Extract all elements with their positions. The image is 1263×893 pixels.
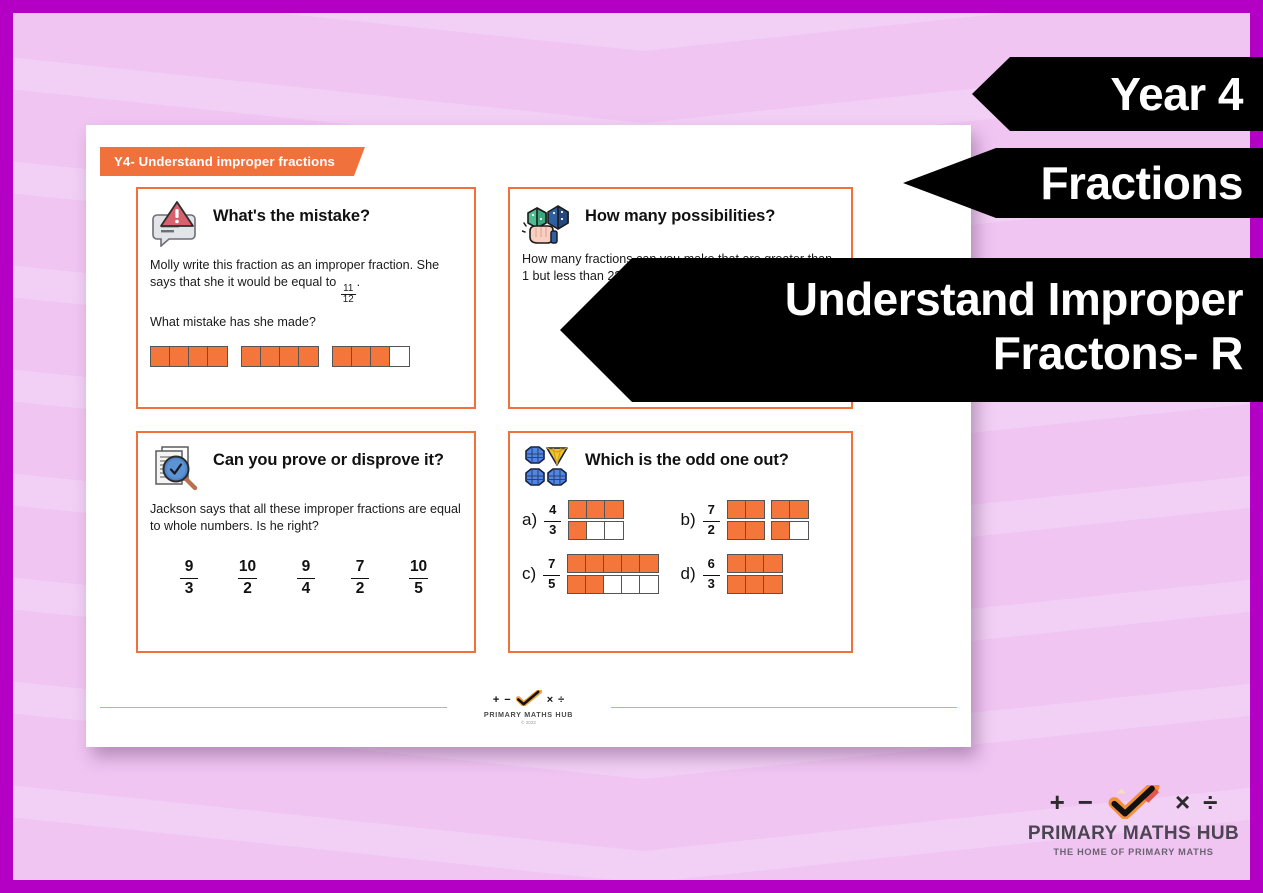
option-b[interactable]: b)72 <box>681 500 840 540</box>
card-odd-one-out[interactable]: Which is the odd one out? a)43b)72c)75d)… <box>508 431 853 653</box>
card-header: Can you prove or disprove it? <box>150 443 462 491</box>
bar-cell-empty <box>390 347 409 366</box>
shape-cell-filled <box>790 501 808 518</box>
shape-block <box>771 521 809 540</box>
shape-cell-filled <box>728 522 746 539</box>
fraction-bar <box>150 346 228 367</box>
fraction-numerator: 9 <box>297 558 316 576</box>
fraction-denominator: 2 <box>351 578 370 597</box>
stacked-fraction: 72 <box>351 558 370 598</box>
shape-block <box>727 521 765 540</box>
fraction-bar <box>332 346 410 367</box>
shape-cell-filled <box>772 501 790 518</box>
shape-row <box>727 521 809 540</box>
card-header: How many possibilities? <box>522 199 839 247</box>
bar-cell-filled <box>151 347 170 366</box>
card-body: Jackson says that all these improper fra… <box>150 501 462 536</box>
card-title: How many possibilities? <box>585 199 775 227</box>
shape-cell-filled <box>569 522 587 539</box>
shape-cell-filled <box>605 501 623 518</box>
option-label: d) <box>681 564 696 584</box>
bar-cell-filled <box>280 347 299 366</box>
shape-cell-empty <box>622 576 640 593</box>
shape-block <box>771 500 809 519</box>
logo-tagline: THE HOME OF PRIMARY MATHS <box>1026 847 1241 857</box>
stacked-fraction: 102 <box>234 558 261 598</box>
banner-year: Year 4 <box>972 57 1263 131</box>
shape-block <box>727 575 783 594</box>
fraction-bar <box>241 346 319 367</box>
fraction-denominator: 3 <box>544 521 561 538</box>
fraction-numerator: 6 <box>703 557 720 573</box>
option-fraction: 75 <box>543 557 560 591</box>
footer-brand-name: PRIMARY MATHS HUB <box>461 710 597 719</box>
bar-cell-filled <box>189 347 208 366</box>
shape-cell-filled <box>586 576 604 593</box>
fraction-numerator: 7 <box>543 557 560 573</box>
shape-cell-filled <box>640 555 658 572</box>
shape-row <box>567 554 659 573</box>
inline-fraction: 1112 <box>341 284 356 306</box>
option-shape <box>567 554 659 594</box>
times-icon: × <box>1175 789 1190 815</box>
shape-cell-filled <box>728 576 746 593</box>
bar-cell-filled <box>261 347 280 366</box>
minus-icon: − <box>1078 789 1093 815</box>
fraction-numerator: 9 <box>180 558 199 576</box>
times-icon: × <box>547 694 553 706</box>
banner-lesson-title: Understand Improper Fractons- R <box>560 258 1263 402</box>
shape-cell-filled <box>764 576 782 593</box>
shape-cell-filled <box>728 501 746 518</box>
shape-block <box>568 521 624 540</box>
option-label: c) <box>522 564 536 584</box>
divide-icon: ÷ <box>1203 789 1217 815</box>
fraction-numerator: 4 <box>544 503 561 519</box>
odd-one-out-options: a)43b)72c)75d)63 <box>522 500 839 594</box>
option-fraction: 63 <box>703 557 720 591</box>
shape-cell-filled <box>772 522 790 539</box>
divide-icon: ÷ <box>558 694 564 706</box>
shape-block <box>568 500 624 519</box>
bar-cell-filled <box>242 347 261 366</box>
shape-cell-filled <box>764 555 782 572</box>
card-header: Which is the odd one out? <box>522 443 839 491</box>
shape-cell-filled <box>746 576 764 593</box>
shape-cell-filled <box>586 555 604 572</box>
shape-cell-filled <box>746 555 764 572</box>
card-whats-the-mistake[interactable]: What's the mistake? Molly write this fra… <box>136 187 476 409</box>
shape-row <box>567 575 659 594</box>
shape-cell-filled <box>622 555 640 572</box>
speech-bubble-warning-icon <box>150 199 204 247</box>
option-c[interactable]: c)75 <box>522 554 681 594</box>
logo-brand-name: PRIMARY MATHS HUB <box>1026 823 1241 845</box>
bar-cell-filled <box>208 347 227 366</box>
option-shape <box>727 500 809 540</box>
footer-rule-right <box>611 707 958 708</box>
card-body: Molly write this fraction as an improper… <box>150 257 462 332</box>
shape-cell-filled <box>604 555 622 572</box>
slide-topic-tab: Y4- Understand improper fractions <box>100 147 365 176</box>
shape-cell-empty <box>640 576 658 593</box>
fraction-numerator: 10 <box>234 558 261 576</box>
plus-icon: + <box>1050 789 1065 815</box>
shape-row <box>727 575 783 594</box>
card-title: What's the mistake? <box>213 199 370 227</box>
slide-footer: + − × ÷ PRIMARY MATHS HUB © 2022 <box>86 690 971 725</box>
card-header: What's the mistake? <box>150 199 462 247</box>
bar-cell-filled <box>170 347 189 366</box>
footer-rule-left <box>100 707 447 708</box>
option-d[interactable]: d)63 <box>681 554 840 594</box>
bar-cell-filled <box>371 347 390 366</box>
option-a[interactable]: a)43 <box>522 500 681 540</box>
footer-logo: + − × ÷ PRIMARY MATHS HUB © 2022 <box>461 690 597 725</box>
bar-cell-filled <box>352 347 371 366</box>
shape-block <box>567 575 659 594</box>
option-label: a) <box>522 510 537 530</box>
fraction-denominator: 4 <box>297 578 316 597</box>
shape-block <box>727 554 783 573</box>
dice-hand-icon <box>522 199 576 247</box>
shape-cell-empty <box>790 522 808 539</box>
fraction-denominator: 3 <box>703 575 720 592</box>
primary-maths-hub-logo: + − × ÷ PRIMARY MATHS HUB THE HOME OF PR… <box>1026 785 1241 857</box>
card-question: What mistake has she made? <box>150 314 462 331</box>
stacked-fraction: 94 <box>297 558 316 598</box>
banner-title-line1: Understand Improper <box>560 272 1243 326</box>
shape-cell-filled <box>568 576 586 593</box>
plus-icon: + <box>493 694 499 706</box>
fraction-denominator: 3 <box>180 578 199 597</box>
shape-cell-filled <box>728 555 746 572</box>
fraction-denominator: 2 <box>703 521 720 538</box>
card-title: Which is the odd one out? <box>585 443 789 471</box>
magnifier-document-icon <box>150 443 204 491</box>
fraction-numerator: 7 <box>703 503 720 519</box>
shape-row <box>727 500 809 519</box>
card-title: Can you prove or disprove it? <box>213 443 444 471</box>
shape-row <box>568 500 624 519</box>
banner-title-line2: Fractons- R <box>560 326 1243 380</box>
stacked-fraction: 105 <box>405 558 432 598</box>
option-label: b) <box>681 510 696 530</box>
shape-cell-filled <box>746 522 764 539</box>
tick-pencil-icon <box>1106 785 1162 819</box>
bar-cell-filled <box>333 347 352 366</box>
stacked-fraction: 93 <box>180 558 199 598</box>
tick-icon <box>516 690 542 709</box>
shape-cell-filled <box>587 501 605 518</box>
fraction-list: 931029472105 <box>150 558 462 598</box>
fraction-denominator: 2 <box>238 578 257 597</box>
fraction-numerator: 7 <box>351 558 370 576</box>
shape-row <box>727 554 783 573</box>
card-prove-or-disprove[interactable]: Can you prove or disprove it? Jackson sa… <box>136 431 476 653</box>
gems-icon <box>522 443 576 491</box>
option-fraction: 43 <box>544 503 561 537</box>
shape-cell-empty <box>604 576 622 593</box>
card-statement: Molly write this fraction as an improper… <box>150 257 462 305</box>
bar-cell-filled <box>299 347 318 366</box>
worksheet-slide: Y4- Understand improper fractions What's… <box>86 125 971 747</box>
shape-cell-filled <box>746 501 764 518</box>
option-fraction: 72 <box>703 503 720 537</box>
fraction-numerator: 10 <box>405 558 432 576</box>
fraction-denominator: 5 <box>409 578 428 597</box>
shape-cell-empty <box>587 522 605 539</box>
shape-cell-filled <box>568 555 586 572</box>
slide-preview-page: Y4- Understand improper fractions What's… <box>0 0 1263 893</box>
footer-operators: + − × ÷ <box>461 690 597 709</box>
logo-operators: + − × ÷ <box>1026 785 1241 819</box>
option-shape <box>568 500 624 540</box>
shape-block <box>727 500 765 519</box>
minus-icon: − <box>504 694 510 706</box>
shape-cell-empty <box>605 522 623 539</box>
option-shape <box>727 554 783 594</box>
fraction-bar-group <box>150 346 462 367</box>
shape-cell-filled <box>569 501 587 518</box>
shape-block <box>567 554 659 573</box>
fraction-denominator: 5 <box>543 575 560 592</box>
footer-copyright: © 2022 <box>461 720 597 725</box>
shape-row <box>568 521 624 540</box>
